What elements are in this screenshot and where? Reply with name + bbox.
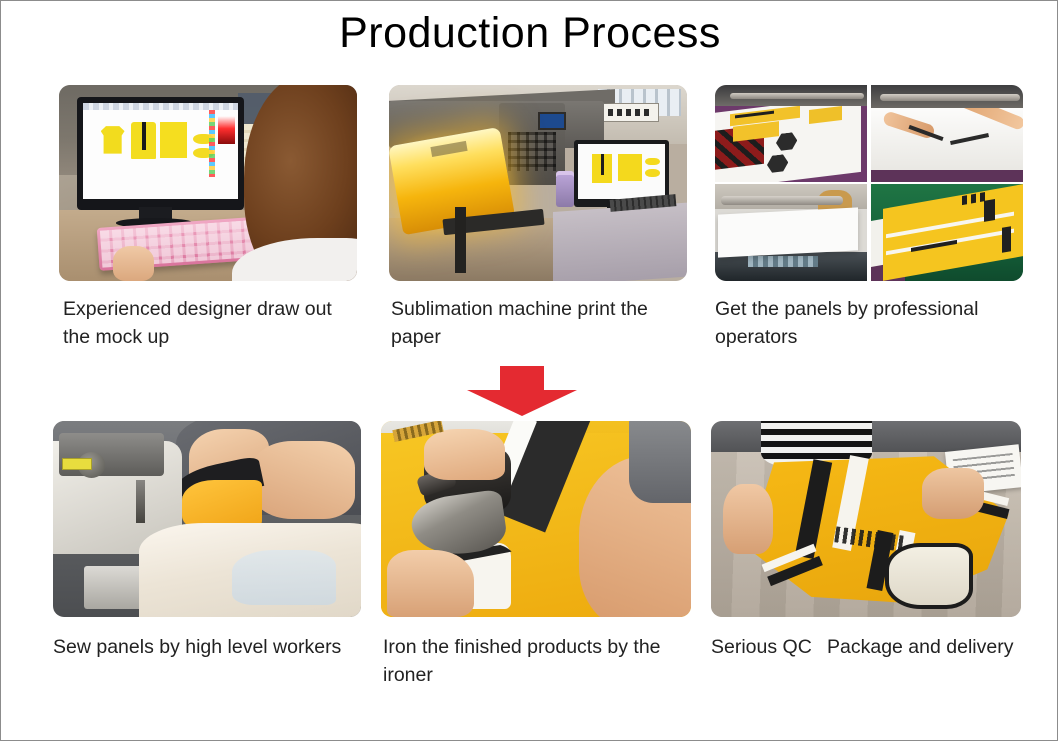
step-5-photo (381, 421, 691, 617)
step-3-caption: Get the panels by professional operators (715, 295, 1025, 351)
step-1-caption: Experienced designer draw out the mock u… (63, 295, 373, 351)
quad-heat-press (715, 184, 867, 281)
quad-yellow-panels (871, 184, 1023, 281)
page-title: Production Process (1, 9, 1058, 58)
step-6-caption-qc: Serious QC (711, 633, 831, 661)
step-6-photo (711, 421, 1021, 617)
red-down-arrow-icon (467, 366, 577, 416)
designer-computer-scene (59, 85, 357, 281)
panels-quad-scene (715, 85, 1023, 281)
sublimation-printer-scene (389, 85, 687, 281)
quad-printed-paper (715, 85, 867, 182)
quad-cutting-fabric (871, 85, 1023, 182)
production-process-infographic: Production Process Experienced designer … (0, 0, 1058, 741)
sewing-machine-scene (53, 421, 361, 617)
step-5-caption: Iron the finished products by the ironer (383, 633, 693, 689)
ironing-scene (381, 421, 691, 617)
step-6-caption-package: Package and delivery (827, 633, 1037, 661)
step-3-photo (715, 85, 1023, 281)
step-2-photo (389, 85, 687, 281)
step-2-caption: Sublimation machine print the paper (391, 295, 691, 351)
step-4-caption: Sew panels by high level workers (53, 633, 383, 661)
step-1-photo (59, 85, 357, 281)
qc-inspection-scene (711, 421, 1021, 617)
step-4-photo (53, 421, 361, 617)
